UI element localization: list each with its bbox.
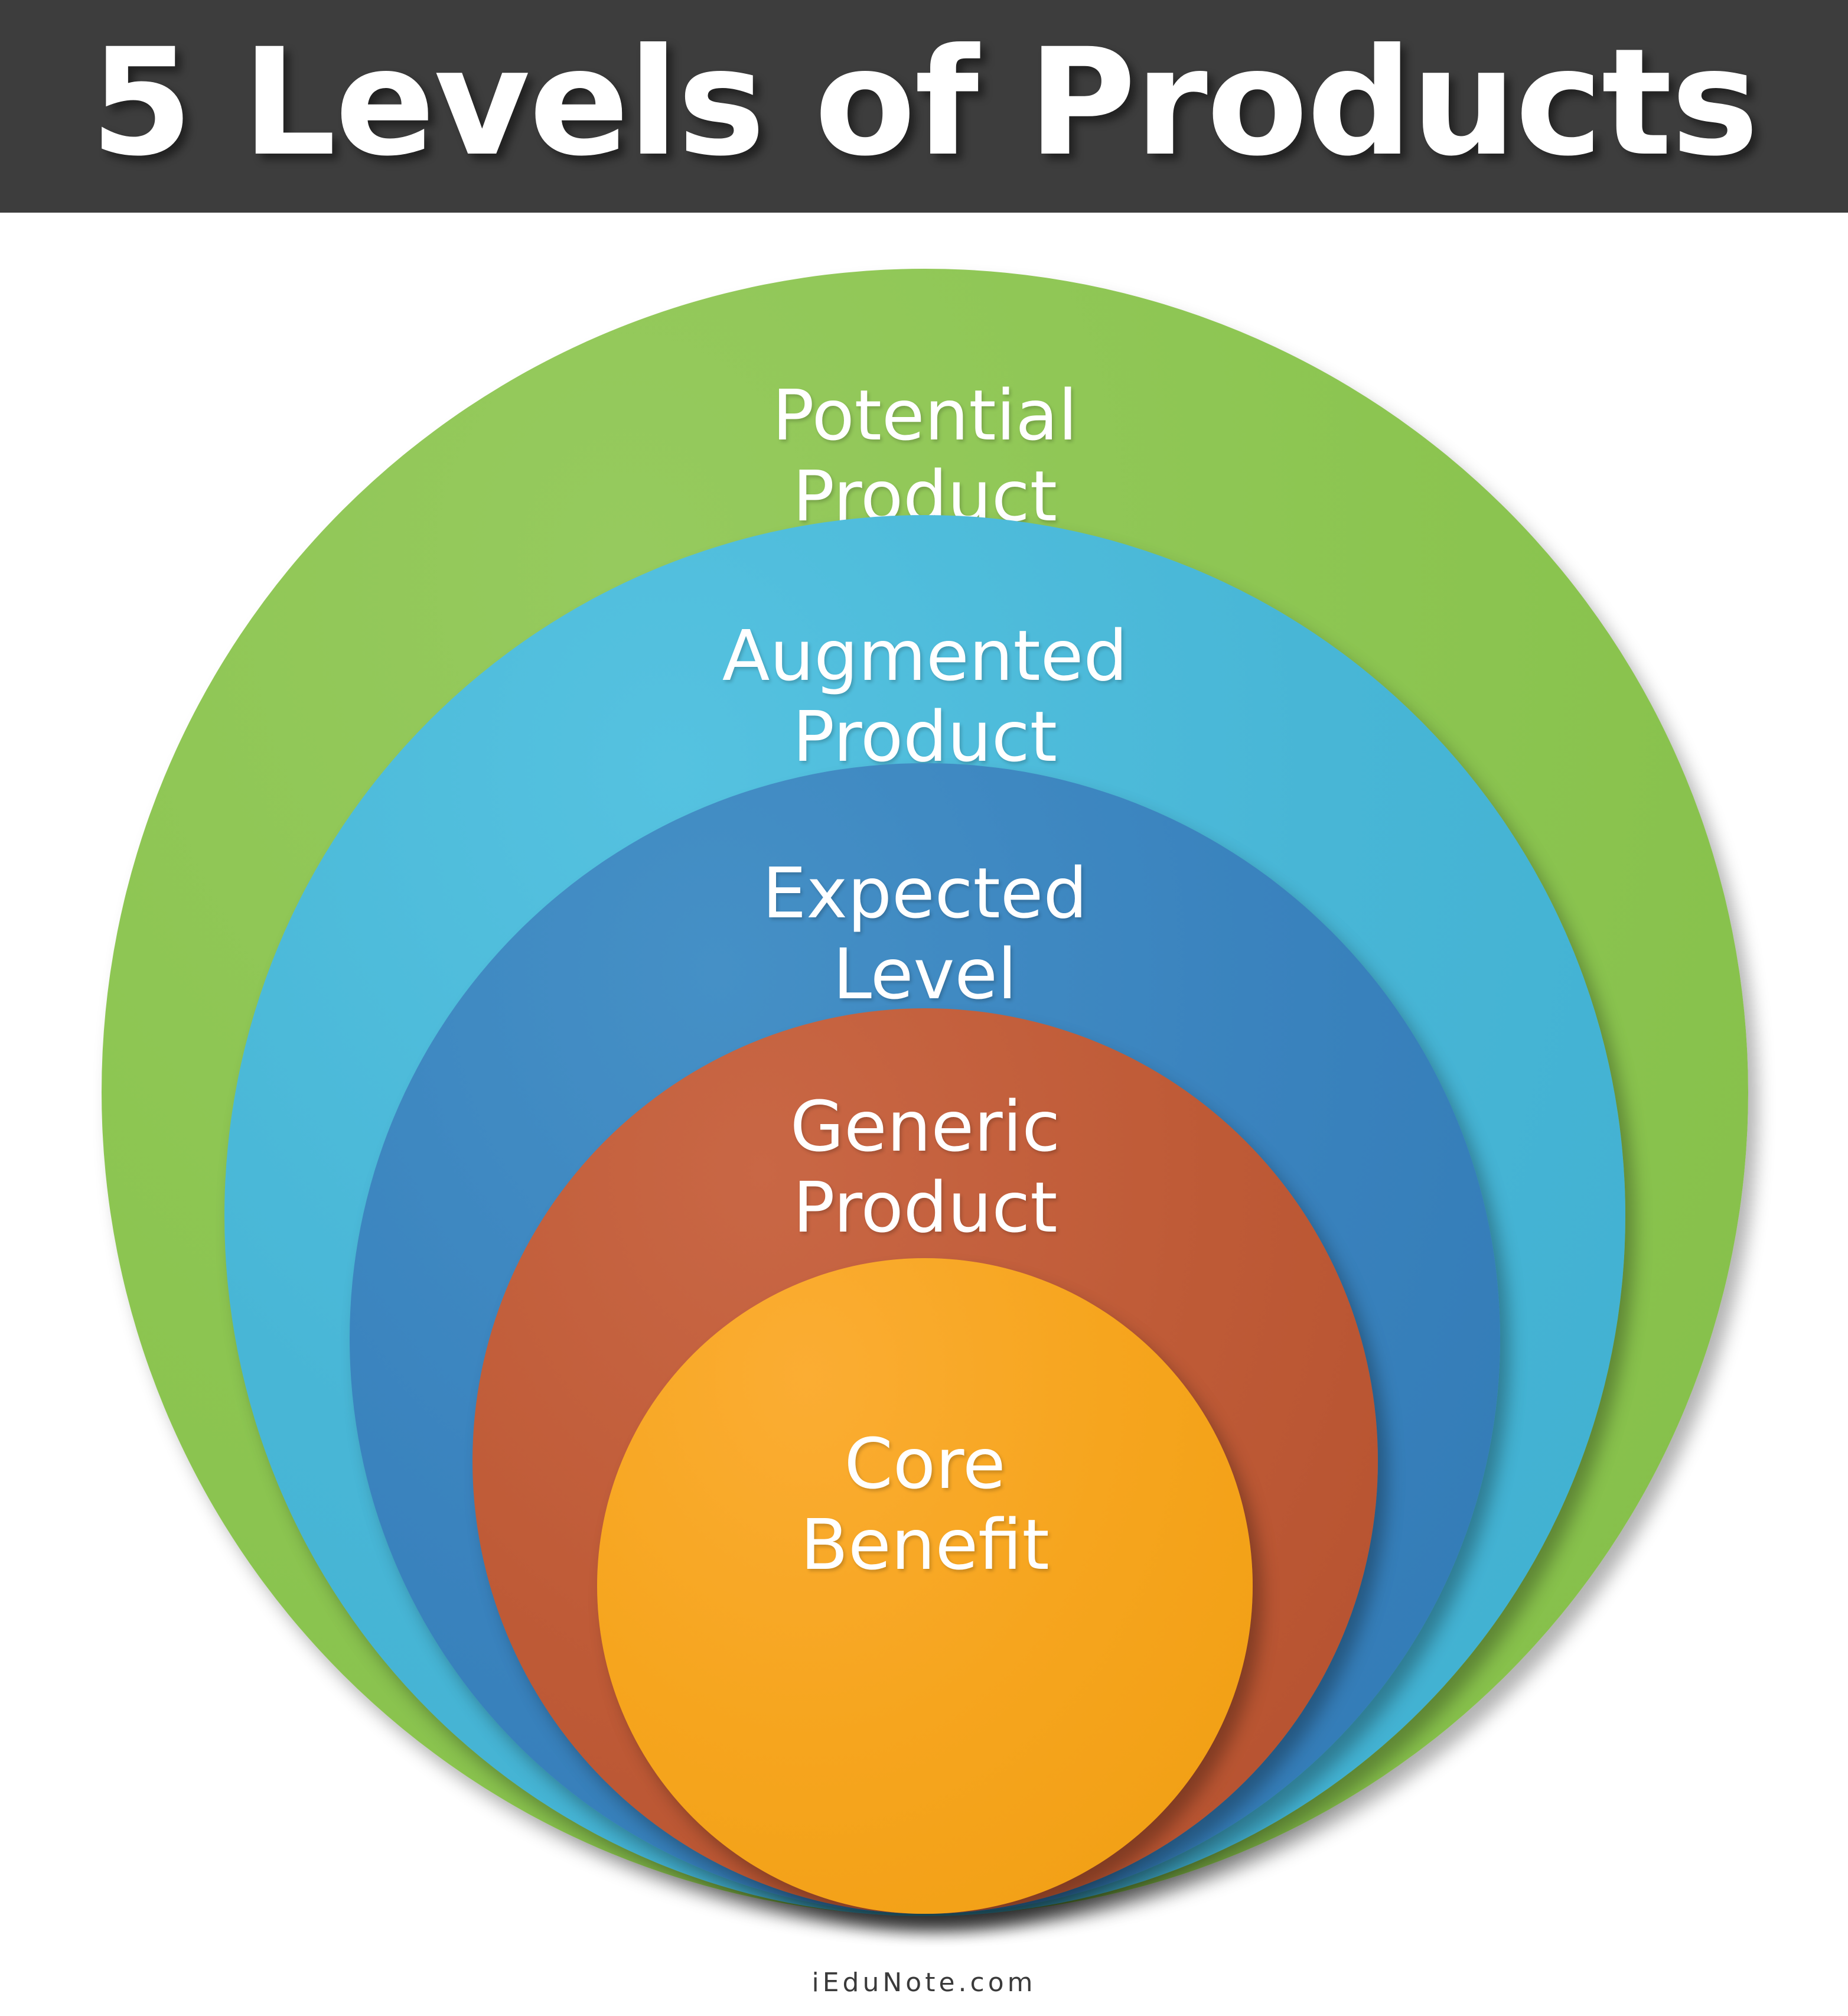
circle-label-potential-product: Potential Product — [102, 375, 1748, 537]
circle-label-expected-level: Expected Level — [350, 853, 1500, 1015]
footer-bar: iEduNote.com — [0, 1949, 1848, 2016]
attribution-text: iEduNote.com — [812, 1968, 1037, 1998]
circle-level-core-benefit[interactable]: Core Benefit — [597, 1258, 1253, 1914]
infographic-page: 5 Levels of Products Potential Product A… — [0, 0, 1848, 2016]
concentric-circles-diagram: Potential Product Augmented Product Expe… — [0, 213, 1848, 1955]
header-bar: 5 Levels of Products — [0, 0, 1848, 213]
page-title: 5 Levels of Products — [90, 29, 1758, 177]
circle-label-generic-product: Generic Product — [472, 1086, 1378, 1248]
circle-label-augmented-product: Augmented Product — [224, 615, 1625, 777]
circle-label-core-benefit: Core Benefit — [597, 1424, 1253, 1585]
